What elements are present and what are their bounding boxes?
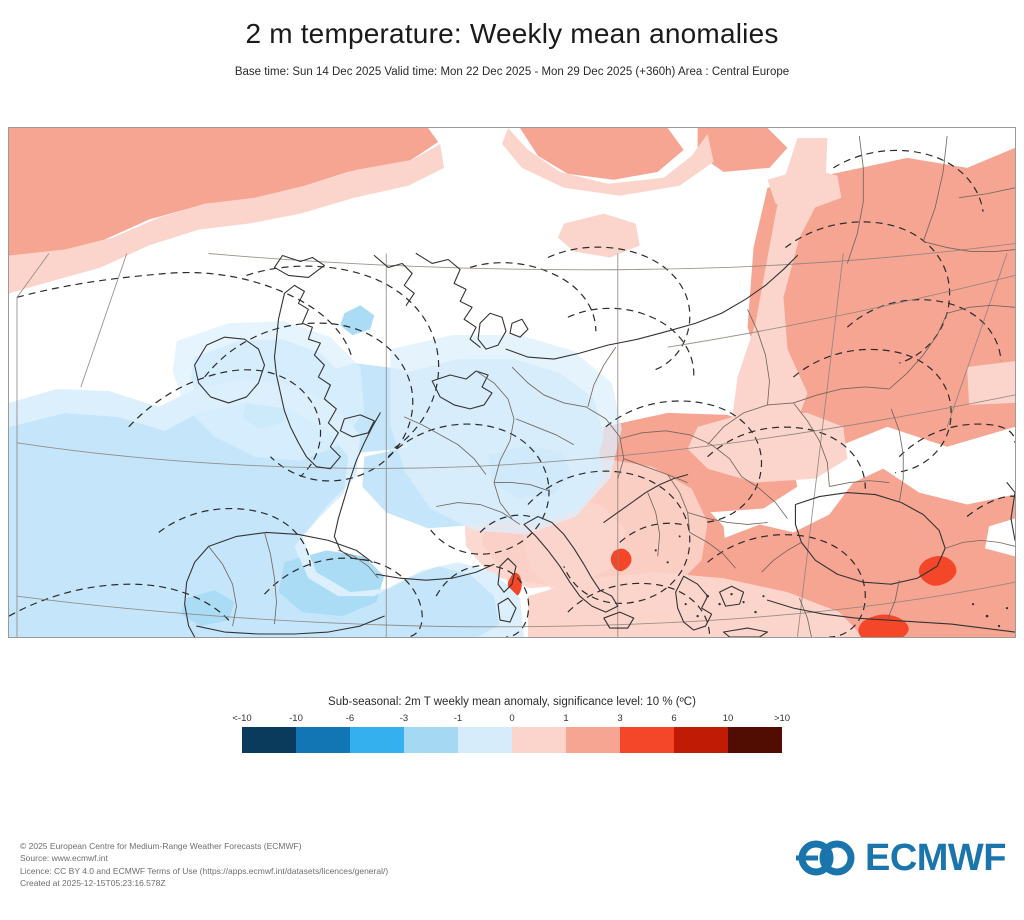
- colorbar-swatch: [458, 727, 512, 753]
- footer-source: Source: www.ecmwf.int: [20, 852, 660, 864]
- colorbar-tick-label: 3: [617, 713, 622, 724]
- colorbar-swatch: [674, 727, 728, 753]
- map-svg: [9, 128, 1015, 637]
- colorbar-legend: Sub-seasonal: 2m T weekly mean anomaly, …: [0, 696, 1024, 753]
- footer-copyright: © 2025 European Centre for Medium-Range …: [20, 840, 660, 852]
- colorbar[interactable]: [242, 727, 782, 753]
- colorbar-swatch: [296, 727, 350, 753]
- footer-licence: Licence: CC BY 4.0 and ECMWF Terms of Us…: [20, 865, 660, 877]
- ecmwf-logo-text: ECMWF: [865, 839, 1006, 877]
- colorbar-swatch: [404, 727, 458, 753]
- footer-credits: © 2025 European Centre for Medium-Range …: [20, 840, 660, 890]
- legend-title: Sub-seasonal: 2m T weekly mean anomaly, …: [0, 696, 1024, 708]
- colorbar-tick-label: 10: [723, 713, 734, 724]
- colorbar-swatch: [620, 727, 674, 753]
- colorbar-swatch: [512, 727, 566, 753]
- colorbar-tick-label: >10: [774, 713, 790, 724]
- colorbar-swatch: [350, 727, 404, 753]
- colorbar-swatch: [566, 727, 620, 753]
- colorbar-tick-label: 6: [671, 713, 676, 724]
- colorbar-tick-label: -1: [454, 713, 462, 724]
- colorbar-swatch: [728, 727, 782, 753]
- colorbar-ticks: <-10-10-6-3-1013610>10: [242, 713, 782, 727]
- page-subtitle: Base time: Sun 14 Dec 2025 Valid time: M…: [0, 66, 1024, 78]
- footer-created-at: Created at 2025-12-15T05:23:16.578Z: [20, 877, 660, 889]
- colorbar-tick-label: -3: [400, 713, 408, 724]
- colorbar-tick-label: -6: [346, 713, 354, 724]
- anomaly-map[interactable]: [8, 127, 1016, 638]
- colorbar-tick-label: <-10: [232, 713, 251, 724]
- page-title: 2 m temperature: Weekly mean anomalies: [0, 18, 1024, 50]
- ecmwf-logo[interactable]: ECMWF: [796, 838, 1006, 878]
- ecmwf-mark-icon: [796, 838, 858, 878]
- colorbar-tick-label: 1: [563, 713, 568, 724]
- colorbar-tick-label: -10: [289, 713, 303, 724]
- colorbar-tick-label: 0: [509, 713, 514, 724]
- colorbar-swatch: [242, 727, 296, 753]
